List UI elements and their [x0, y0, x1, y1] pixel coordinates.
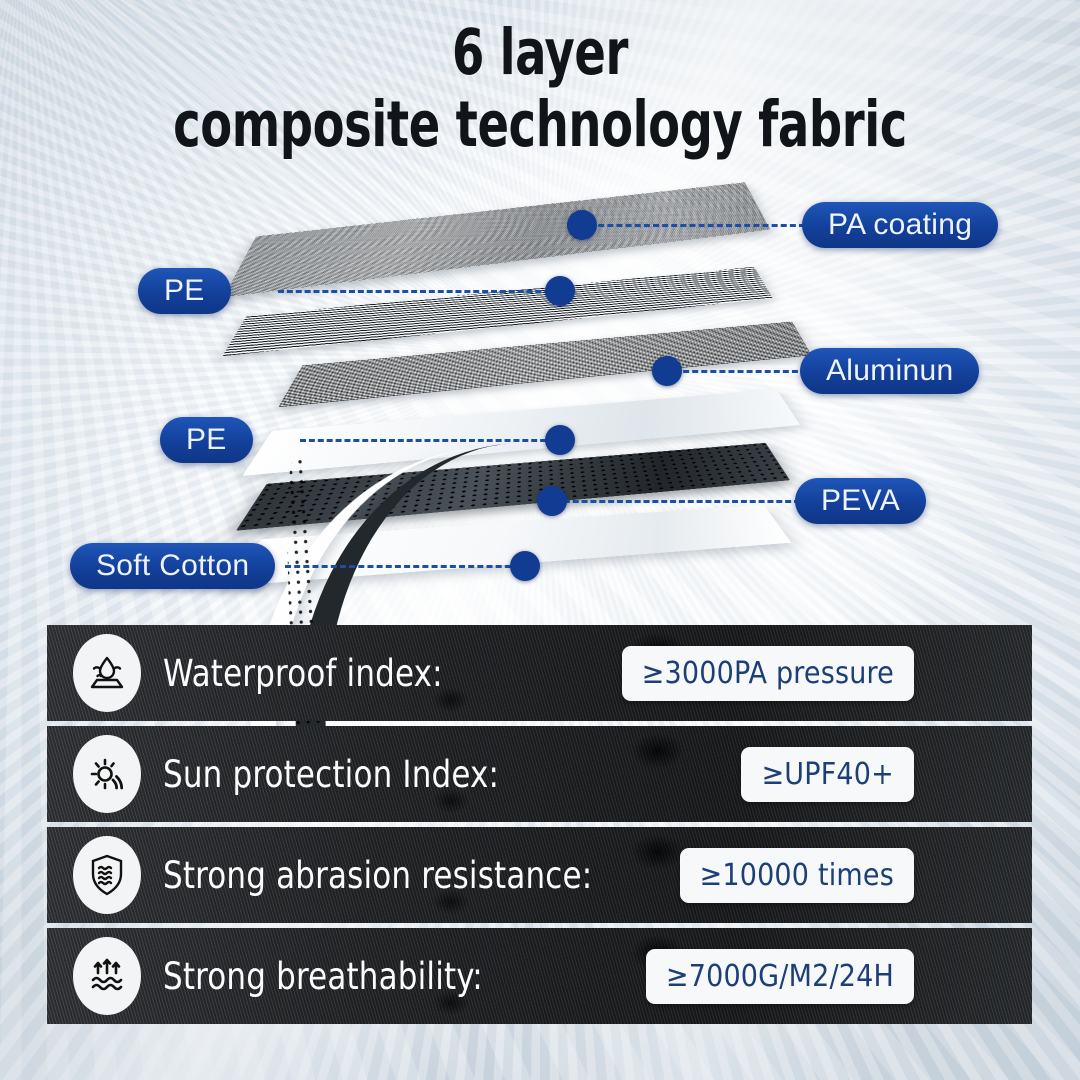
leader-dot-soft-cotton	[510, 551, 540, 581]
callout-pe-upper[interactable]: PE	[138, 268, 231, 314]
shield-waves-icon	[73, 836, 141, 914]
callout-aluminun[interactable]: Aluminun	[800, 348, 979, 394]
title-line-1: 6 layer	[97, 22, 983, 84]
spec-row-waterproof[interactable]: Waterproof index: ≥3000PA pressure	[47, 625, 1032, 721]
leader-line-pa-coating	[580, 224, 805, 227]
leader-line-pe-upper	[278, 290, 568, 293]
spec-label-breathability: Strong breathability:	[163, 955, 483, 998]
callout-soft-cotton[interactable]: Soft Cotton	[70, 543, 275, 589]
spec-row-abrasion[interactable]: Strong abrasion resistance: ≥10000 times	[47, 827, 1032, 923]
spec-value-waterproof: ≥3000PA pressure	[622, 646, 914, 701]
leader-dot-pe-lower	[545, 425, 575, 455]
leader-dot-aluminun	[652, 356, 682, 386]
callout-pa-coating[interactable]: PA coating	[802, 202, 998, 248]
specifications-panel: Waterproof index: ≥3000PA pressure Sun p…	[47, 625, 1032, 1029]
spec-value-sun-protection: ≥UPF40+	[741, 747, 914, 802]
spec-label-sun-protection: Sun protection Index:	[163, 753, 499, 796]
leader-line-aluminun	[665, 370, 807, 373]
sun-rays-icon	[73, 735, 141, 813]
callout-pe-lower[interactable]: PE	[160, 417, 253, 463]
leader-dot-pe-upper	[545, 276, 575, 306]
infographic-root: 6 layer composite technology fabric PA c…	[0, 0, 1080, 1080]
arrows-waves-icon	[73, 937, 141, 1015]
spec-row-breathability[interactable]: Strong breathability: ≥7000G/M2/24H	[47, 928, 1032, 1024]
water-droplet-repel-icon	[73, 634, 141, 712]
page-title: 6 layer composite technology fabric	[0, 22, 1080, 155]
spec-row-sun-protection[interactable]: Sun protection Index: ≥UPF40+	[47, 726, 1032, 822]
title-line-2: composite technology fabric	[97, 94, 983, 156]
callout-peva[interactable]: PEVA	[795, 478, 926, 524]
spec-label-abrasion: Strong abrasion resistance:	[163, 854, 592, 897]
spec-label-waterproof: Waterproof index:	[163, 652, 443, 695]
leader-line-soft-cotton	[285, 565, 520, 568]
spec-value-abrasion: ≥10000 times	[680, 848, 914, 903]
leader-line-peva	[555, 500, 800, 503]
leader-dot-peva	[537, 486, 567, 516]
spec-value-breathability: ≥7000G/M2/24H	[646, 949, 914, 1004]
leader-dot-pa-coating	[567, 210, 597, 240]
leader-line-pe-lower	[300, 439, 555, 442]
